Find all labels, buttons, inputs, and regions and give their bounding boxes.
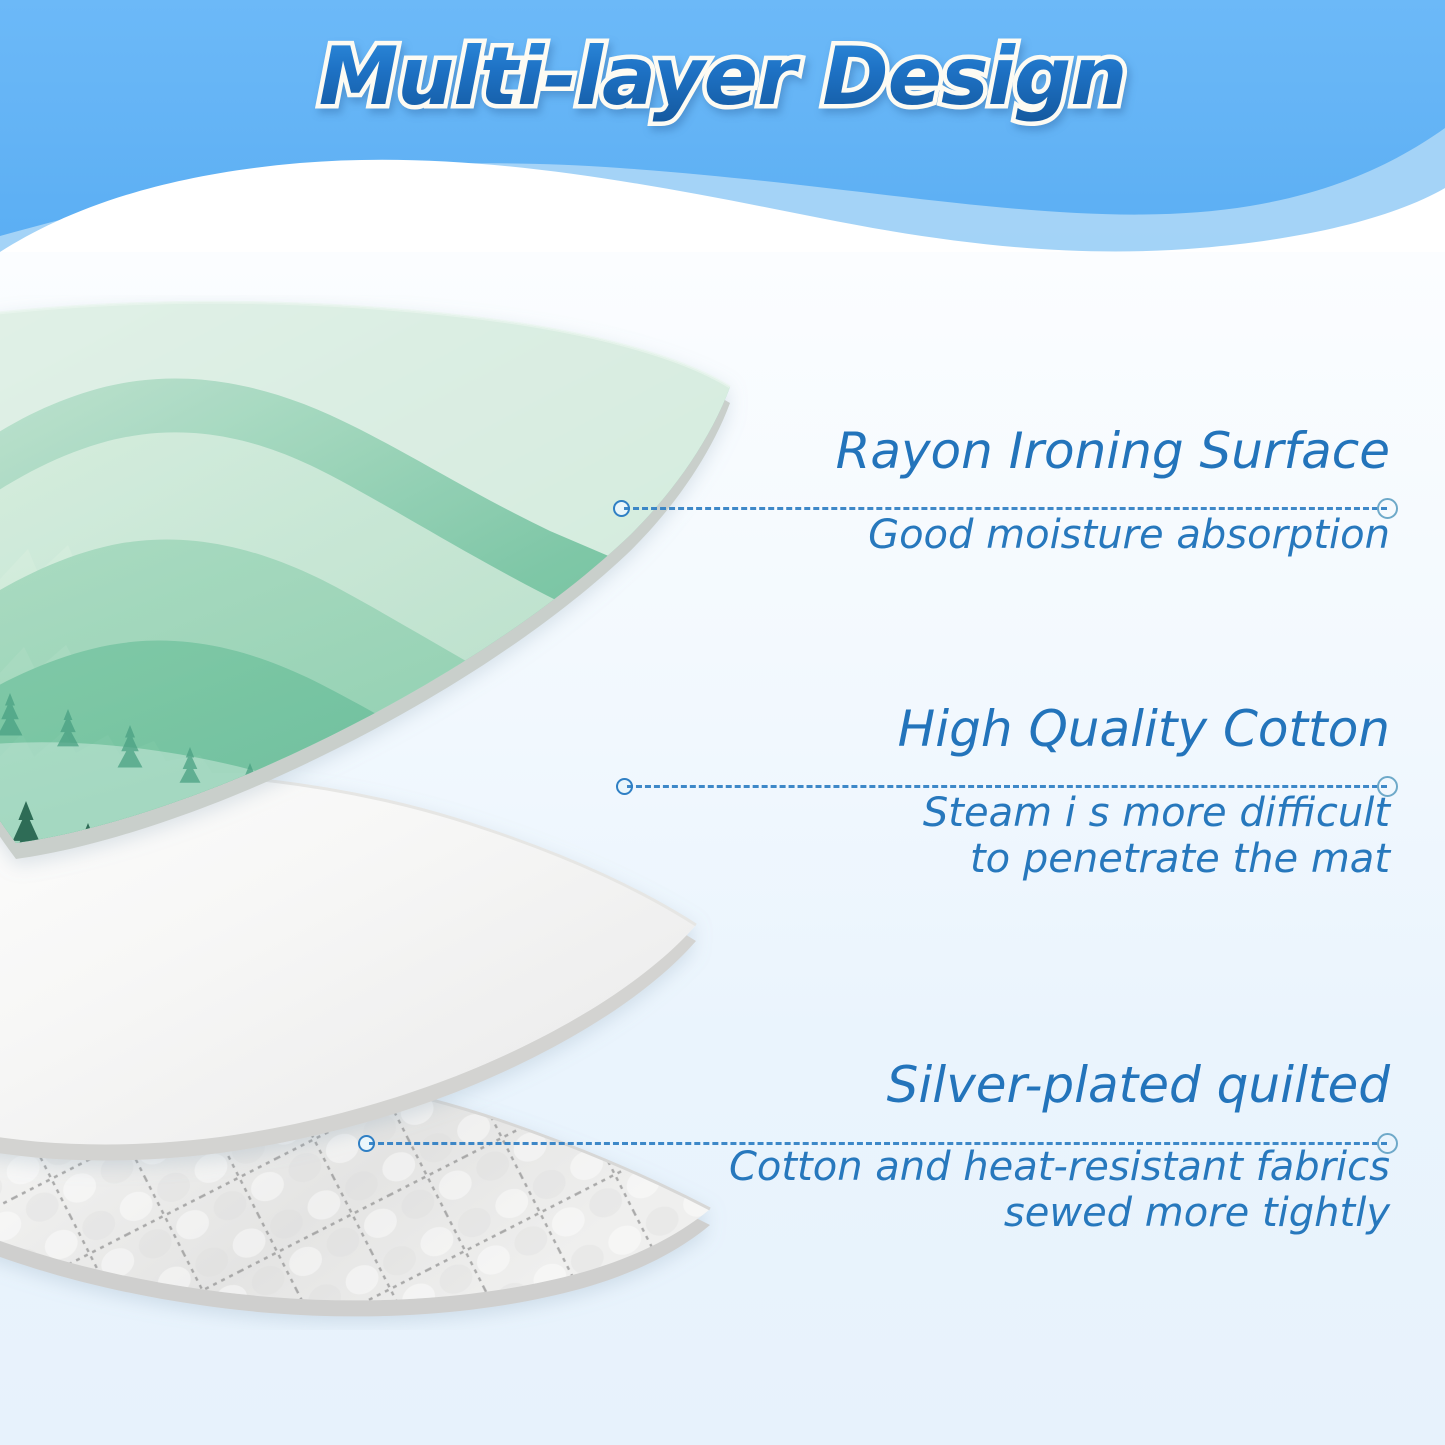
callout-subtitle-rayon: Good moisture absorption [670, 512, 1390, 558]
callout-rayon-ironing-surface: Rayon Ironing Surface Good moisture abso… [670, 424, 1390, 558]
callout-high-quality-cotton: High Quality Cotton Steam i s more diffi… [670, 702, 1390, 883]
callout-silver-plated-quilted: Silver-plated quilted Cotton and heat-re… [630, 1058, 1390, 1237]
callout-subtitle-rayon-line1: Good moisture absorption [670, 512, 1390, 558]
callout-title-cotton: High Quality Cotton [670, 702, 1390, 756]
callout-subtitle-quilted-line2: sewed more tightly [630, 1190, 1390, 1236]
header-banner: Multi-layer Design Multi-layer Design [0, 0, 1445, 252]
callout-title-quilted: Silver-plated quilted [630, 1058, 1390, 1112]
header-wave-graphic [0, 0, 1445, 252]
callout-subtitle-cotton-line2: to penetrate the mat [670, 836, 1390, 882]
callout-title-rayon: Rayon Ironing Surface [670, 424, 1390, 478]
callout-subtitle-quilted-line1: Cotton and heat-resistant fabrics [630, 1144, 1390, 1190]
callout-subtitle-cotton: Steam i s more difficult to penetrate th… [670, 790, 1390, 883]
infographic-page: Multi-layer Design Multi-layer Design [0, 0, 1445, 1445]
callout-subtitle-cotton-line1: Steam i s more difficult [670, 790, 1390, 836]
callout-subtitle-quilted: Cotton and heat-resistant fabrics sewed … [630, 1144, 1390, 1237]
